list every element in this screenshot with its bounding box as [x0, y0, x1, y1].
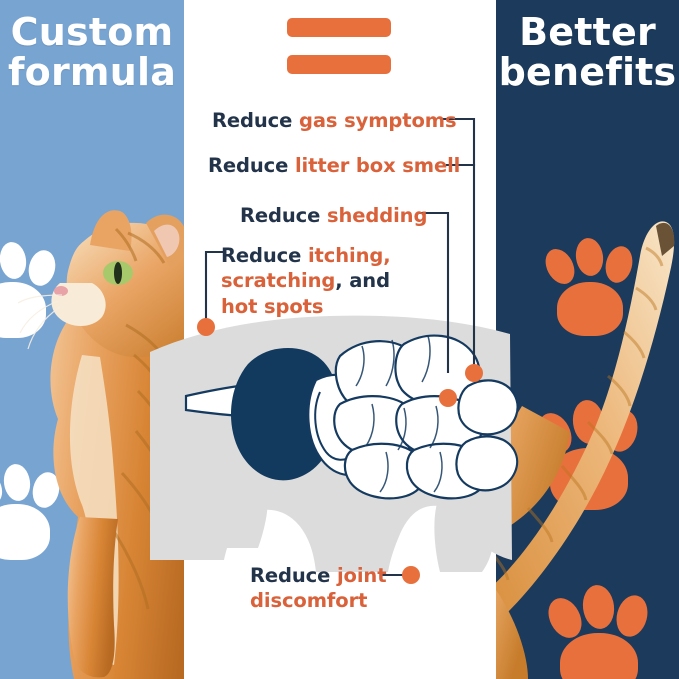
callout-itching-scratching-hotspots: Reduce itching, scratching, and hot spot… [221, 243, 411, 319]
callout-highlight: gas symptoms [299, 109, 457, 132]
marker-dot-shedding [439, 389, 457, 407]
infographic-canvas: Custom formula Better benefits [0, 0, 679, 679]
equals-icon [287, 18, 391, 80]
equals-bar-top [287, 18, 391, 37]
callout-highlight-2: scratching [221, 269, 335, 292]
callout-highlight: joint [337, 564, 386, 587]
marker-dot-gas-litter [465, 364, 483, 382]
callout-shedding: Reduce shedding [240, 203, 427, 228]
callout-gas-symptoms: Reduce gas symptoms [212, 108, 457, 133]
callout-highlight: litter box smell [295, 154, 460, 177]
callout-joint-discomfort: Reduce joint discomfort [250, 563, 395, 614]
callout-highlight-2: discomfort [250, 589, 367, 612]
callout-prefix: Reduce [208, 154, 295, 177]
callout-prefix: Reduce [250, 564, 337, 587]
equals-bar-bottom [287, 55, 391, 74]
callout-mid: , and [335, 269, 390, 292]
callout-highlight: shedding [327, 204, 427, 227]
marker-dot-joint [402, 566, 420, 584]
callout-prefix: Reduce [240, 204, 327, 227]
callout-highlight-3: hot spots [221, 295, 323, 318]
callout-prefix: Reduce [221, 244, 308, 267]
callout-prefix: Reduce [212, 109, 299, 132]
marker-dot-itching [197, 318, 215, 336]
callout-highlight: itching, [308, 244, 391, 267]
callout-litter-box-smell: Reduce litter box smell [208, 153, 460, 178]
